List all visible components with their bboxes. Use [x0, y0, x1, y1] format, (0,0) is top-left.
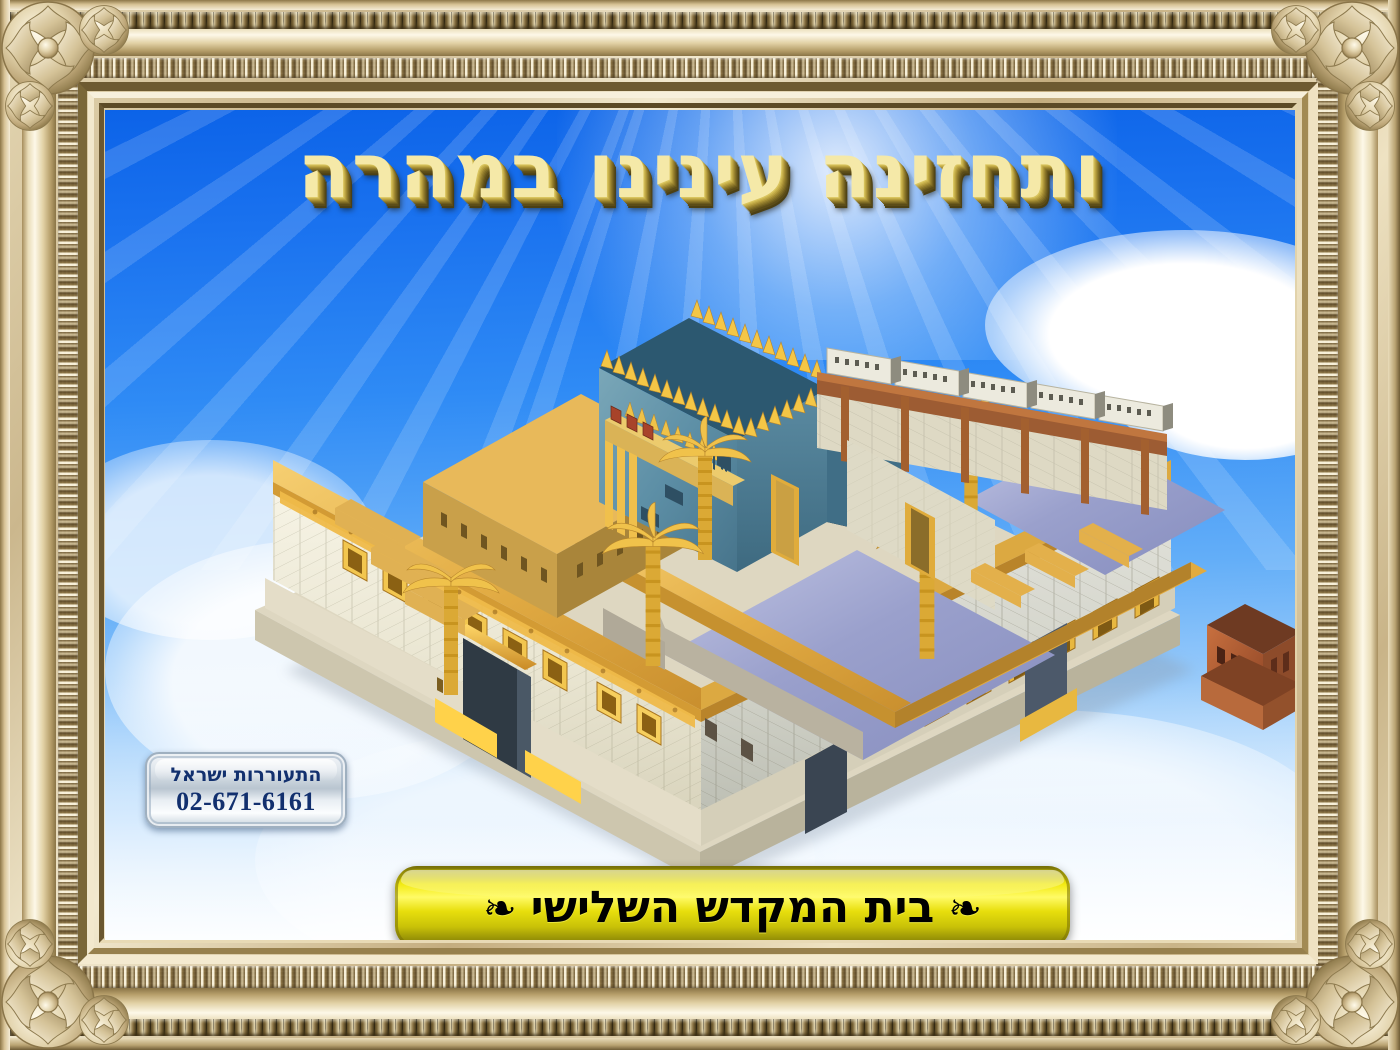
- brick-outbuilding: [1201, 604, 1295, 730]
- frame-molding-right: [1338, 22, 1378, 1028]
- banner-caption: ❧בית המקדש השלישי❧: [469, 882, 996, 933]
- frame-edge-left: [0, 0, 10, 1050]
- frame-scallop-top: [10, 12, 1390, 29]
- frame-carved-band-top: [58, 58, 1342, 78]
- artwork-canvas: ותחזינה עינינו במהרה התעוררות ישראל 02-6…: [105, 110, 1295, 940]
- frame-molding-left: [22, 22, 56, 1028]
- banner-caption-text: בית המקדש השלישי: [531, 882, 935, 933]
- ornament-left-icon: ❧: [469, 886, 531, 932]
- page-title: ותחזינה עינינו במהרה: [105, 126, 1295, 215]
- plaque-org-name: התעוררות ישראל: [171, 764, 322, 786]
- frame-carved-band-left: [58, 58, 78, 992]
- frame-edge-top: [0, 0, 1400, 10]
- sanctuary-gold-door: [771, 474, 799, 566]
- frame-carved-band-bottom: [58, 966, 1342, 988]
- framed-poster: ותחזינה עינינו במהרה התעוררות ישראל 02-6…: [0, 0, 1400, 1050]
- frame-edge-right: [1388, 0, 1400, 1050]
- frame-scallop-bottom: [10, 1019, 1390, 1036]
- frame-carved-band-right: [1316, 58, 1338, 992]
- ornament-right-icon: ❧: [934, 886, 996, 932]
- caption-banner[interactable]: ❧בית המקדש השלישי❧: [395, 866, 1070, 940]
- organization-plaque[interactable]: התעוררות ישראל 02-671-6161: [145, 752, 347, 828]
- plaque-phone-number: 02-671-6161: [176, 787, 316, 817]
- frame-edge-bottom: [0, 1038, 1400, 1050]
